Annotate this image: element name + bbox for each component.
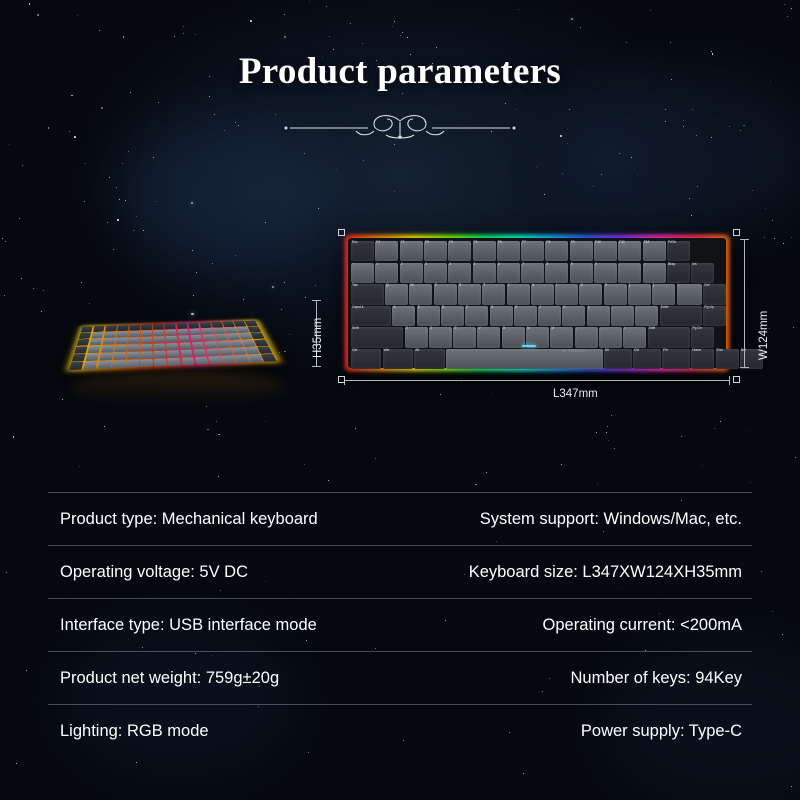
keycap <box>101 345 114 352</box>
keycap: D <box>441 306 464 326</box>
star <box>218 476 219 477</box>
keycap-label: F <box>466 306 468 309</box>
keycap <box>261 354 277 362</box>
keycap: K <box>562 306 585 326</box>
keycap <box>206 348 220 355</box>
keyboard-top-view: EscF1F2F3F4F5F6F7F8F9F10F11F12PrtSc~1234… <box>344 234 730 372</box>
star <box>761 571 762 572</box>
star <box>795 457 796 458</box>
keycap: Ctrl <box>351 349 381 369</box>
star <box>265 421 266 422</box>
keycap: Shift <box>351 327 403 347</box>
star <box>272 286 274 288</box>
spec-row: Operating voltage: 5V DCKeyboard size: L… <box>48 546 752 599</box>
keycap <box>104 331 116 337</box>
keycap <box>113 352 126 360</box>
keycap-label: \ <box>678 284 679 287</box>
keycap-label: G <box>491 306 494 309</box>
star <box>107 222 108 223</box>
star <box>250 20 252 22</box>
star <box>284 282 285 283</box>
star <box>400 35 401 36</box>
star <box>562 173 563 174</box>
keycap: ; <box>611 306 634 326</box>
keycap: A <box>392 306 415 326</box>
keycap-label: N <box>527 327 529 330</box>
keycap <box>167 350 180 358</box>
star <box>329 36 330 37</box>
star <box>79 466 80 467</box>
keycap-label: Esc <box>352 241 358 244</box>
keycap <box>219 348 233 355</box>
keycap <box>199 322 211 328</box>
star <box>362 43 363 44</box>
keycap-label: ] <box>653 284 654 287</box>
keycap: Alt <box>604 349 632 369</box>
star <box>436 47 437 48</box>
star <box>183 33 184 34</box>
keycap: Y <box>507 284 530 304</box>
keycap-label: 9 <box>571 263 573 266</box>
star <box>772 611 773 612</box>
keycap: H <box>514 306 537 326</box>
star <box>681 436 682 437</box>
keycap: F1 <box>375 241 398 261</box>
keycap <box>165 329 177 335</box>
star <box>783 243 784 244</box>
nebula-blob <box>560 70 800 240</box>
keycap-label: ~ <box>352 263 354 266</box>
keycap <box>181 357 195 365</box>
keycap: Bksp <box>667 263 690 283</box>
width-dimension-tick-bottom <box>740 367 749 368</box>
star <box>631 157 632 158</box>
keycap-label: Ctrl <box>352 349 357 352</box>
star <box>791 786 792 787</box>
star <box>195 34 196 35</box>
keycap: Esc <box>351 241 374 261</box>
star <box>407 37 408 38</box>
star <box>580 27 581 28</box>
keycap: End <box>716 349 739 369</box>
star <box>116 187 117 188</box>
star <box>523 773 524 774</box>
height-dimension-tick-bottom <box>312 366 321 367</box>
keycap <box>248 326 262 332</box>
star <box>196 272 197 273</box>
star <box>315 285 316 286</box>
star <box>637 174 638 175</box>
keycap <box>177 329 189 335</box>
keycap <box>127 344 139 351</box>
keycap: L <box>587 306 610 326</box>
keycap: F12 <box>643 241 666 261</box>
star <box>19 218 20 219</box>
star <box>191 202 193 204</box>
keycap <box>221 356 236 364</box>
star <box>13 436 15 438</box>
star <box>304 153 305 154</box>
star <box>153 157 154 158</box>
spec-cell-left: Lighting: RGB mode <box>48 722 401 741</box>
star <box>21 278 22 279</box>
keycap <box>116 331 128 337</box>
keycap-label: - <box>619 263 620 266</box>
star <box>122 163 123 164</box>
keycap-label: . <box>600 327 601 330</box>
star <box>606 432 607 433</box>
keycap: ' <box>635 306 658 326</box>
star <box>619 153 620 154</box>
star <box>650 10 651 11</box>
star <box>209 96 210 97</box>
spec-cell-right: Operating current: <200mA <box>401 616 752 635</box>
keycap: W <box>409 284 432 304</box>
star <box>2 238 3 239</box>
star <box>787 16 788 17</box>
keycap-label: Enter <box>661 306 669 309</box>
keycap <box>193 349 206 357</box>
keycap <box>227 334 240 341</box>
length-dimension-tick-right <box>729 376 730 385</box>
keycap <box>179 342 192 349</box>
keycap <box>93 326 105 332</box>
star <box>125 200 126 201</box>
keycap: C <box>453 327 476 347</box>
keycap-label: E <box>435 284 437 287</box>
keycap-label: X <box>430 327 432 330</box>
keycap <box>154 351 166 359</box>
height-dimension-label: H35mm <box>312 318 324 358</box>
keycap: F6 <box>497 241 520 261</box>
star <box>593 186 594 187</box>
keycap-label: J <box>539 306 541 309</box>
keycap-label: P <box>605 284 607 287</box>
keycap-label: B <box>503 327 505 330</box>
star <box>101 107 103 109</box>
keycap-label: , <box>576 327 577 330</box>
keycap-label: F9 <box>571 241 575 244</box>
star <box>235 255 236 256</box>
star <box>284 36 286 38</box>
keycap-label: Del <box>704 284 709 287</box>
keycap: Home <box>691 349 714 369</box>
keycap: / <box>623 327 646 347</box>
star <box>765 208 766 209</box>
keycap: F2 <box>400 241 423 261</box>
star <box>85 163 86 164</box>
star <box>84 201 85 202</box>
keycap: 1 <box>375 263 398 283</box>
star <box>475 484 477 486</box>
spec-row: Product type: Mechanical keyboardSystem … <box>48 492 752 546</box>
keycap <box>141 330 152 336</box>
keycap: O <box>579 284 602 304</box>
keycap <box>202 334 215 341</box>
keycap: PrtSc <box>667 241 690 261</box>
keycap <box>141 344 153 351</box>
star <box>128 151 129 152</box>
keycap <box>140 351 152 359</box>
keycap: - <box>618 263 641 283</box>
star <box>375 458 376 459</box>
star <box>37 14 39 16</box>
keycap: = <box>643 263 666 283</box>
width-dimension-line <box>744 239 745 367</box>
keycap-label: 8 <box>546 263 548 266</box>
keycap: P <box>604 284 627 304</box>
keycap <box>140 359 153 367</box>
star <box>193 295 194 296</box>
star <box>392 26 393 27</box>
star <box>16 763 17 764</box>
keycap-label: 5 <box>474 263 476 266</box>
star <box>784 4 785 5</box>
keycap <box>154 358 167 366</box>
keycap: Enter <box>660 306 703 326</box>
spec-row: Lighting: RGB modePower supply: Type-C <box>48 705 752 757</box>
star <box>29 3 31 5</box>
star <box>772 220 773 221</box>
star <box>774 238 775 239</box>
spec-cell-right: System support: Windows/Mac, etc. <box>401 510 752 529</box>
keycap-label: 0 <box>595 263 597 266</box>
star <box>505 103 506 104</box>
star <box>440 394 441 395</box>
keycap: Win <box>383 349 413 369</box>
keycap-label: ' <box>636 306 637 309</box>
keycap <box>195 357 209 365</box>
keycap <box>208 356 222 364</box>
keycap <box>166 343 178 350</box>
spec-row: Product net weight: 759g±20gNumber of ke… <box>48 652 752 705</box>
keycap-label: T <box>483 284 485 287</box>
keycap: [ <box>628 284 651 304</box>
keycap-label: F12 <box>644 241 650 244</box>
keycap-label: U <box>532 284 534 287</box>
star <box>109 177 110 178</box>
keycap: I <box>555 284 578 304</box>
star <box>614 448 615 449</box>
keycap-label: = <box>644 263 646 266</box>
keycap: Tab <box>351 284 384 304</box>
keycap-label: Alt <box>605 349 609 352</box>
star <box>206 406 207 407</box>
keyboard-keycaps: EscF1F2F3F4F5F6F7F8F9F10F11F12PrtSc~1234… <box>348 238 726 368</box>
star <box>119 199 120 200</box>
keycap: 5 <box>473 263 496 283</box>
star <box>791 237 792 238</box>
keycap: U <box>531 284 554 304</box>
ornamental-divider <box>0 110 800 146</box>
keycap: S <box>417 306 440 326</box>
keycap-label: 6 <box>498 263 500 266</box>
star <box>99 30 100 31</box>
keycap <box>190 335 203 342</box>
keycap <box>78 332 91 338</box>
star <box>536 167 537 168</box>
keycap <box>141 337 153 344</box>
keycap <box>97 361 111 369</box>
keycap <box>204 341 217 348</box>
star <box>720 421 721 422</box>
keycap: Ctrl <box>633 349 661 369</box>
star <box>782 634 783 635</box>
star <box>689 198 690 199</box>
star <box>309 1 310 2</box>
keycap-label: W <box>410 284 413 287</box>
keycap: M <box>550 327 573 347</box>
star <box>793 327 794 328</box>
keycap <box>85 353 99 361</box>
keycap <box>105 325 117 331</box>
keycap-label: V <box>478 327 480 330</box>
star <box>328 480 329 481</box>
keycap-label: S <box>418 306 420 309</box>
star <box>136 762 137 763</box>
star <box>22 165 23 166</box>
keycap <box>141 324 152 330</box>
keycap: F9 <box>570 241 593 261</box>
keycap <box>114 345 127 352</box>
keycap <box>76 339 90 346</box>
keycap-label: O <box>580 284 583 287</box>
keycap: X <box>429 327 452 347</box>
star <box>41 311 42 312</box>
star <box>491 393 492 394</box>
spec-cell-left: Interface type: USB interface mode <box>48 616 401 635</box>
keycap-label: F6 <box>498 241 502 244</box>
keycap: 4 <box>448 263 471 283</box>
keycap <box>189 328 201 334</box>
keycap: Alt <box>414 349 444 369</box>
keycap-label: Pg Up <box>704 306 713 309</box>
keycap-label: Q <box>386 284 389 287</box>
keycap: T <box>482 284 505 304</box>
keycap: Ins <box>691 263 714 283</box>
spec-cell-right: Number of keys: 94Key <box>401 669 752 688</box>
page-title: Product parameters <box>0 50 800 93</box>
star <box>571 18 573 20</box>
spec-table: Product type: Mechanical keyboardSystem … <box>48 492 752 757</box>
keycap-label: 1 <box>376 263 378 266</box>
star <box>228 368 229 369</box>
keycap <box>102 338 115 345</box>
corner-marker-top-left <box>338 229 345 236</box>
star <box>265 222 266 223</box>
star <box>305 297 306 298</box>
spacebar-led-indicator <box>522 345 536 347</box>
keycap <box>178 335 190 342</box>
keycap: G <box>490 306 513 326</box>
keycap: \ <box>677 284 703 304</box>
keycap <box>153 330 164 336</box>
keycap-label: R <box>459 284 461 287</box>
keycap-label: A <box>393 306 395 309</box>
spec-cell-right: Power supply: Type-C <box>401 722 752 741</box>
spec-row: Interface type: USB interface modeOperat… <box>48 599 752 652</box>
keycap: . <box>599 327 622 347</box>
keycap <box>112 360 126 368</box>
keycap-label: Win <box>384 349 390 352</box>
keycap: R <box>458 284 481 304</box>
keycap-label: End <box>717 349 723 352</box>
spec-cell-left: Product net weight: 759g±20g <box>48 669 401 688</box>
star <box>714 428 715 429</box>
keycap <box>217 341 231 348</box>
keycap <box>153 336 165 343</box>
corner-marker-bottom-left <box>338 376 345 383</box>
keycap <box>215 334 228 341</box>
star <box>318 208 319 209</box>
keycap: F4 <box>448 241 471 261</box>
keycap-label: M <box>551 327 554 330</box>
keycap <box>71 354 86 362</box>
star <box>104 426 105 427</box>
keycap: ~ <box>351 263 374 283</box>
keycap-label: H <box>515 306 517 309</box>
keycap-label: Shift <box>352 327 359 330</box>
keycap-label: F4 <box>449 241 453 244</box>
keycap <box>99 353 113 361</box>
keycap: 7 <box>521 263 544 283</box>
keycap <box>224 327 237 333</box>
keycap <box>129 324 140 330</box>
keycap-label: I <box>556 284 557 287</box>
spec-cell-left: Operating voltage: 5V DC <box>48 563 401 582</box>
keycap-label: PrtSc <box>668 241 676 244</box>
star <box>123 36 125 38</box>
keycap <box>201 328 213 334</box>
keycap: , <box>575 327 598 347</box>
star <box>697 186 698 187</box>
star <box>518 9 519 10</box>
length-dimension-line <box>344 380 730 381</box>
star <box>174 36 175 37</box>
keycap-label: F10 <box>595 241 601 244</box>
keycap-label: 7 <box>522 263 524 266</box>
keycap <box>222 321 235 327</box>
keycap-label: 4 <box>449 263 451 266</box>
keycap <box>245 320 258 326</box>
keycap <box>87 346 101 353</box>
keycap-label: [ <box>629 284 630 287</box>
star <box>113 249 115 251</box>
star <box>183 26 184 27</box>
star <box>81 282 82 283</box>
star <box>218 434 220 436</box>
star <box>350 23 351 24</box>
star <box>561 464 562 465</box>
width-dimension-tick-top <box>740 239 749 240</box>
star <box>750 482 752 484</box>
keycap <box>166 336 178 343</box>
star <box>607 426 608 427</box>
keycap <box>251 333 265 339</box>
keycap <box>91 332 104 338</box>
keycap: F3 <box>424 241 447 261</box>
keycap-label: / <box>624 327 625 330</box>
keycap-label: C <box>454 327 456 330</box>
keyboard-angled-reflection <box>70 370 285 404</box>
keycap: V <box>477 327 500 347</box>
keycap <box>180 349 193 357</box>
star <box>192 250 193 251</box>
star <box>33 288 34 289</box>
keycap: Del <box>703 284 726 304</box>
product-parameters-page: Product parameters EscF1F2F <box>0 0 800 800</box>
keycap: Shift <box>648 327 691 347</box>
